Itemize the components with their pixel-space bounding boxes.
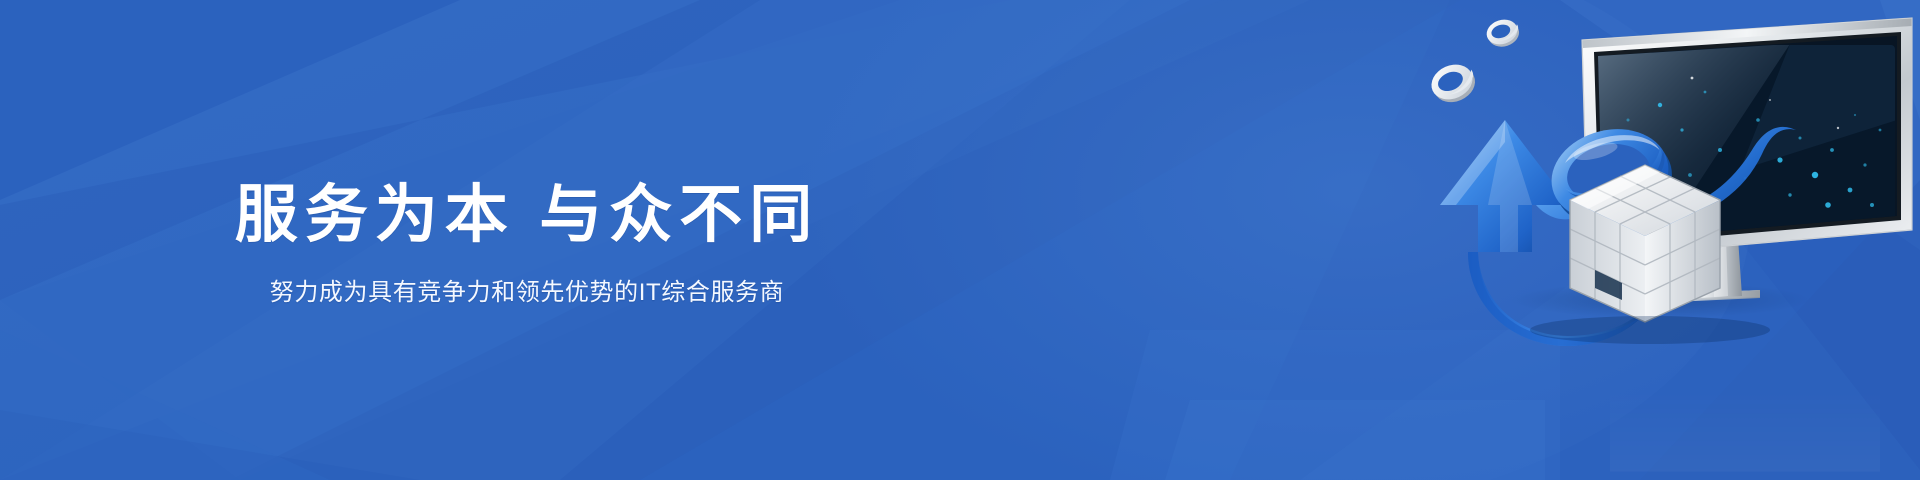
monitor-reflection bbox=[1510, 282, 1880, 472]
ground-shadow bbox=[1530, 316, 1770, 344]
hero-illustration bbox=[1360, 0, 1920, 480]
hero-banner: 服务为本 与众不同 努力成为具有竞争力和领先优势的IT综合服务商 bbox=[0, 0, 1920, 480]
ie-e-logo-small-bottom bbox=[1426, 58, 1481, 109]
ie-e-logo-small-top bbox=[1483, 15, 1522, 50]
